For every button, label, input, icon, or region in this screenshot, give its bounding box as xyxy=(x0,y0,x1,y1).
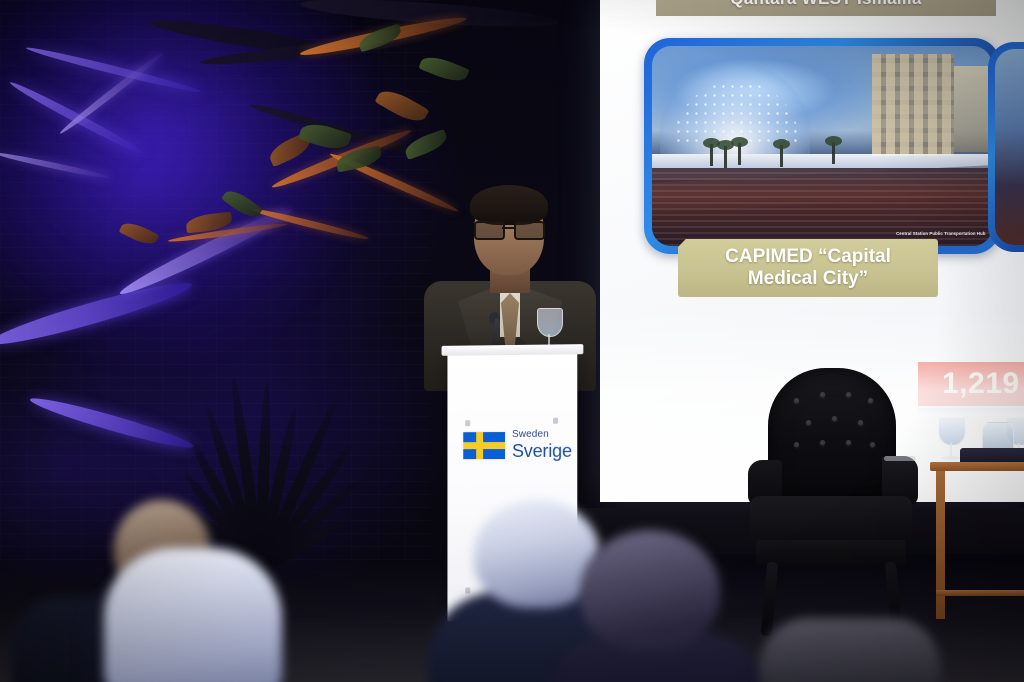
render-palm-tree xyxy=(832,142,835,164)
render-side-tower xyxy=(954,66,988,152)
event-photo-scene: Qantara WEST Ismailia Central Station Pu… xyxy=(0,0,1024,682)
capimed-line-2: Medical City” xyxy=(748,268,868,290)
podium-fixing-screw xyxy=(553,418,558,424)
sweden-sverige-logo: Sweden Sverige xyxy=(463,430,572,460)
slide-capimed-label: CAPIMED “Capital Medical City” xyxy=(678,239,938,297)
table-leg xyxy=(936,471,945,619)
logo-name-swedish: Sverige xyxy=(512,442,572,460)
uplit-tree xyxy=(0,0,470,480)
render-palm-tree xyxy=(710,144,713,166)
eyeglasses-icon xyxy=(474,221,544,236)
slide-secondary-image-frame xyxy=(988,42,1024,252)
render-caption: Central Station Public Transportation Hu… xyxy=(897,231,986,236)
slide-image-frame: Central Station Public Transportation Hu… xyxy=(644,38,1000,254)
table-rail xyxy=(936,590,1024,596)
slide-architectural-render: Central Station Public Transportation Hu… xyxy=(652,46,992,246)
slide-stat-underline xyxy=(918,408,1024,415)
audience-member-shoulder-right xyxy=(760,618,940,682)
logo-wordmark: Sweden Sverige xyxy=(512,430,572,460)
audience-member-headscarf xyxy=(104,548,282,682)
wooden-side-table xyxy=(930,462,1024,662)
capimed-line-1: CAPIMED “Capital xyxy=(725,246,891,268)
slide-secondary-render xyxy=(995,49,1024,245)
render-palm-tree xyxy=(738,143,741,165)
speaker-hair xyxy=(470,185,548,225)
armchair-backrest xyxy=(768,368,896,500)
render-lattice-tower xyxy=(872,54,954,156)
audience-member-dark-hair xyxy=(566,530,756,682)
slide-title-banner: Qantara WEST Ismailia xyxy=(656,0,996,16)
armchair-seat xyxy=(750,496,912,544)
render-palm-tree xyxy=(780,145,783,167)
slide-stat-banner: 1,219 xyxy=(918,362,1024,406)
table-top xyxy=(930,462,1024,471)
render-palm-tree xyxy=(724,146,727,168)
logo-name-english: Sweden xyxy=(512,430,572,440)
armchair-skirt xyxy=(756,540,906,566)
black-tufted-armchair xyxy=(742,368,922,640)
